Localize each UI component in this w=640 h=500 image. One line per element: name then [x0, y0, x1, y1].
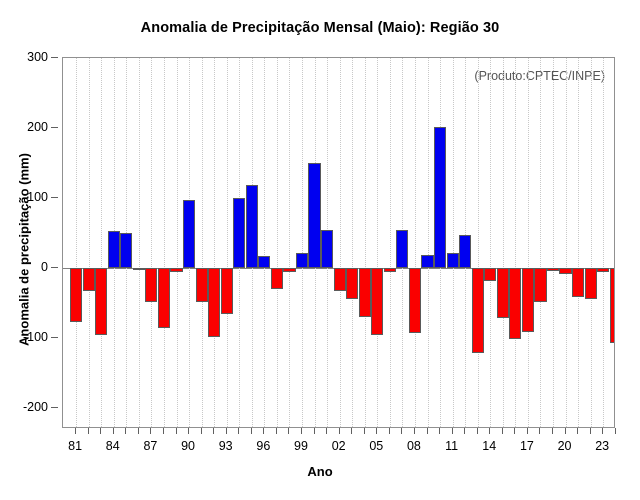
bar-15 — [497, 268, 509, 318]
grid-line — [415, 58, 416, 427]
grid-line — [377, 58, 378, 427]
grid-line — [365, 58, 366, 427]
bar-11 — [447, 253, 459, 268]
grid-line — [352, 58, 353, 427]
bar-89 — [170, 268, 182, 272]
x-tick-mark — [201, 428, 202, 434]
bar-87 — [145, 268, 157, 302]
grid-line — [603, 58, 604, 427]
x-tick-mark — [552, 428, 553, 434]
bar-10 — [434, 127, 446, 268]
x-tick-mark — [389, 428, 390, 434]
bar-95 — [246, 185, 258, 268]
x-tick-label: 02 — [332, 439, 346, 453]
x-tick-label: 87 — [143, 439, 157, 453]
x-tick-label: 05 — [369, 439, 383, 453]
x-tick-mark — [401, 428, 402, 434]
bar-19 — [547, 268, 559, 271]
grid-line — [540, 58, 541, 427]
plot-area: (Produto:CPTEC/INPE) — [62, 57, 615, 428]
grid-line — [428, 58, 429, 427]
y-tick-mark — [51, 197, 58, 198]
x-tick-mark — [301, 428, 302, 434]
x-tick-mark — [414, 428, 415, 434]
x-tick-label: 96 — [256, 439, 270, 453]
bar-05 — [371, 268, 383, 335]
y-tick-label: 0 — [41, 260, 48, 274]
grid-line — [202, 58, 203, 427]
bar-82 — [83, 268, 95, 291]
grid-line — [553, 58, 554, 427]
y-tick-mark — [51, 57, 58, 58]
grid-line — [453, 58, 454, 427]
bar-88 — [158, 268, 170, 328]
x-axis-title: Ano — [0, 464, 640, 479]
x-tick-mark — [502, 428, 503, 434]
y-tick-label: -100 — [23, 330, 48, 344]
bar-85 — [120, 233, 132, 268]
bar-98 — [283, 268, 295, 272]
grid-line — [515, 58, 516, 427]
grid-line — [164, 58, 165, 427]
bar-14 — [484, 268, 496, 281]
bar-20 — [559, 268, 571, 274]
grid-line — [503, 58, 504, 427]
y-tick-label: 200 — [27, 120, 48, 134]
x-tick-label: 81 — [68, 439, 82, 453]
grid-line — [490, 58, 491, 427]
grid-line — [227, 58, 228, 427]
x-tick-label: 14 — [482, 439, 496, 453]
grid-line — [214, 58, 215, 427]
bar-09 — [421, 255, 433, 268]
bar-13 — [472, 268, 484, 353]
x-tick-mark — [176, 428, 177, 434]
grid-line — [390, 58, 391, 427]
x-tick-label: 08 — [407, 439, 421, 453]
x-tick-mark — [539, 428, 540, 434]
bar-93 — [221, 268, 233, 314]
x-tick-mark — [565, 428, 566, 434]
bar-07 — [396, 230, 408, 268]
x-tick-mark — [339, 428, 340, 434]
grid-line — [139, 58, 140, 427]
bar-08 — [409, 268, 421, 333]
x-tick-mark — [489, 428, 490, 434]
bar-16 — [509, 268, 521, 339]
grid-line — [566, 58, 567, 427]
y-tick-label: 300 — [27, 50, 48, 64]
x-tick-label: 20 — [558, 439, 572, 453]
x-tick-mark — [376, 428, 377, 434]
x-tick-mark — [238, 428, 239, 434]
x-tick-mark — [88, 428, 89, 434]
x-tick-mark — [100, 428, 101, 434]
x-tick-mark — [263, 428, 264, 434]
bar-18 — [534, 268, 546, 302]
x-tick-mark — [251, 428, 252, 434]
grid-line — [302, 58, 303, 427]
bar-96 — [258, 256, 270, 268]
y-tick-mark — [51, 337, 58, 338]
grid-line — [340, 58, 341, 427]
bar-92 — [208, 268, 220, 337]
grid-line — [478, 58, 479, 427]
bar-21 — [572, 268, 584, 297]
grid-line — [76, 58, 77, 427]
y-tick-mark — [51, 127, 58, 128]
x-tick-mark — [615, 428, 616, 434]
grid-line — [177, 58, 178, 427]
x-tick-mark — [351, 428, 352, 434]
x-tick-label: 99 — [294, 439, 308, 453]
x-tick-label: 84 — [106, 439, 120, 453]
x-tick-mark — [590, 428, 591, 434]
chart-title: Anomalia de Precipitação Mensal (Maio): … — [0, 20, 640, 36]
bar-94 — [233, 198, 245, 268]
grid-line — [289, 58, 290, 427]
x-tick-mark — [188, 428, 189, 434]
grid-line — [89, 58, 90, 427]
x-tick-mark — [364, 428, 365, 434]
grid-line — [578, 58, 579, 427]
bar-12 — [459, 235, 471, 268]
x-tick-mark — [527, 428, 528, 434]
x-tick-mark — [113, 428, 114, 434]
x-tick-mark — [602, 428, 603, 434]
bar-90 — [183, 200, 195, 268]
y-tick-label: 100 — [27, 190, 48, 204]
bar-03 — [346, 268, 358, 299]
x-tick-label: 90 — [181, 439, 195, 453]
bar-17 — [522, 268, 534, 332]
x-tick-label: 23 — [595, 439, 609, 453]
x-tick-mark — [75, 428, 76, 434]
x-tick-mark — [314, 428, 315, 434]
grid-line — [151, 58, 152, 427]
bar-00 — [308, 163, 320, 268]
y-tick-mark — [51, 267, 58, 268]
x-tick-mark — [288, 428, 289, 434]
x-tick-mark — [213, 428, 214, 434]
x-tick-mark — [477, 428, 478, 434]
x-tick-label: 93 — [219, 439, 233, 453]
bar-84 — [108, 231, 120, 268]
x-tick-label: 11 — [445, 439, 458, 453]
x-tick-mark — [577, 428, 578, 434]
grid-line — [591, 58, 592, 427]
chart-container: Anomalia de Precipitação Mensal (Maio): … — [0, 0, 640, 500]
bar-01 — [321, 230, 333, 268]
x-tick-mark — [452, 428, 453, 434]
grid-line — [528, 58, 529, 427]
x-axis: Ano 818487909396990205081114172023 — [0, 428, 640, 500]
x-tick-mark — [427, 428, 428, 434]
x-tick-mark — [326, 428, 327, 434]
x-tick-mark — [464, 428, 465, 434]
grid-line — [264, 58, 265, 427]
bar-04 — [359, 268, 371, 317]
bar-99 — [296, 253, 308, 268]
y-tick-label: -200 — [23, 400, 48, 414]
grid-line — [277, 58, 278, 427]
x-tick-mark — [125, 428, 126, 434]
bar-81 — [70, 268, 82, 322]
x-tick-mark — [276, 428, 277, 434]
x-tick-mark — [138, 428, 139, 434]
x-tick-mark — [514, 428, 515, 434]
y-axis: Anomalia de precipitação (mm) 3002001000… — [0, 0, 62, 500]
grid-line — [101, 58, 102, 427]
x-tick-mark — [439, 428, 440, 434]
x-tick-mark — [226, 428, 227, 434]
bar-23 — [597, 268, 609, 272]
bar-86 — [133, 268, 145, 270]
bar-02 — [334, 268, 346, 291]
bar-24 — [610, 268, 615, 343]
bar-91 — [196, 268, 208, 302]
bar-06 — [384, 268, 396, 272]
bar-97 — [271, 268, 283, 289]
bar-22 — [585, 268, 597, 299]
bar-83 — [95, 268, 107, 335]
x-tick-label: 17 — [520, 439, 534, 453]
x-tick-mark — [163, 428, 164, 434]
x-tick-mark — [150, 428, 151, 434]
y-tick-mark — [51, 407, 58, 408]
